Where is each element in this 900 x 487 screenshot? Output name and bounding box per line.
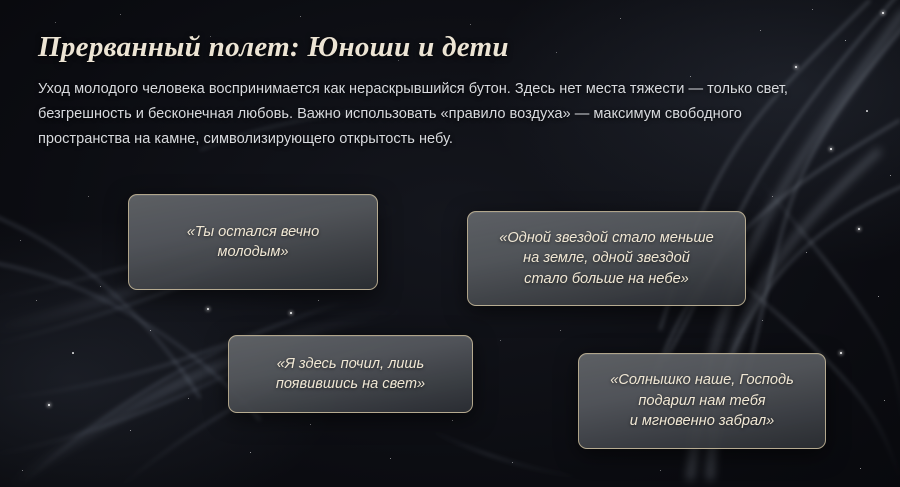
quote-card: «Ты остался вечно молодым» [128,194,378,290]
quote-text: «Солнышко наше, Господь подарил нам тебя… [610,370,794,431]
quote-text: «Ты остался вечно молодым» [187,222,319,263]
page-title: Прерванный полет: Юноши и дети [38,31,509,64]
quote-text: «Одной звездой стало меньше на земле, од… [499,228,714,289]
quote-text: «Я здесь почил, лишь появившись на свет» [276,354,425,395]
quote-card: «Одной звездой стало меньше на земле, од… [467,211,746,306]
quote-card: «Я здесь почил, лишь появившись на свет» [228,335,473,413]
quote-card: «Солнышко наше, Господь подарил нам тебя… [578,353,826,449]
slide-canvas: Прерванный полет: Юноши и дети Уход моло… [0,0,900,487]
intro-paragraph: Уход молодого человека воспринимается ка… [38,77,828,152]
